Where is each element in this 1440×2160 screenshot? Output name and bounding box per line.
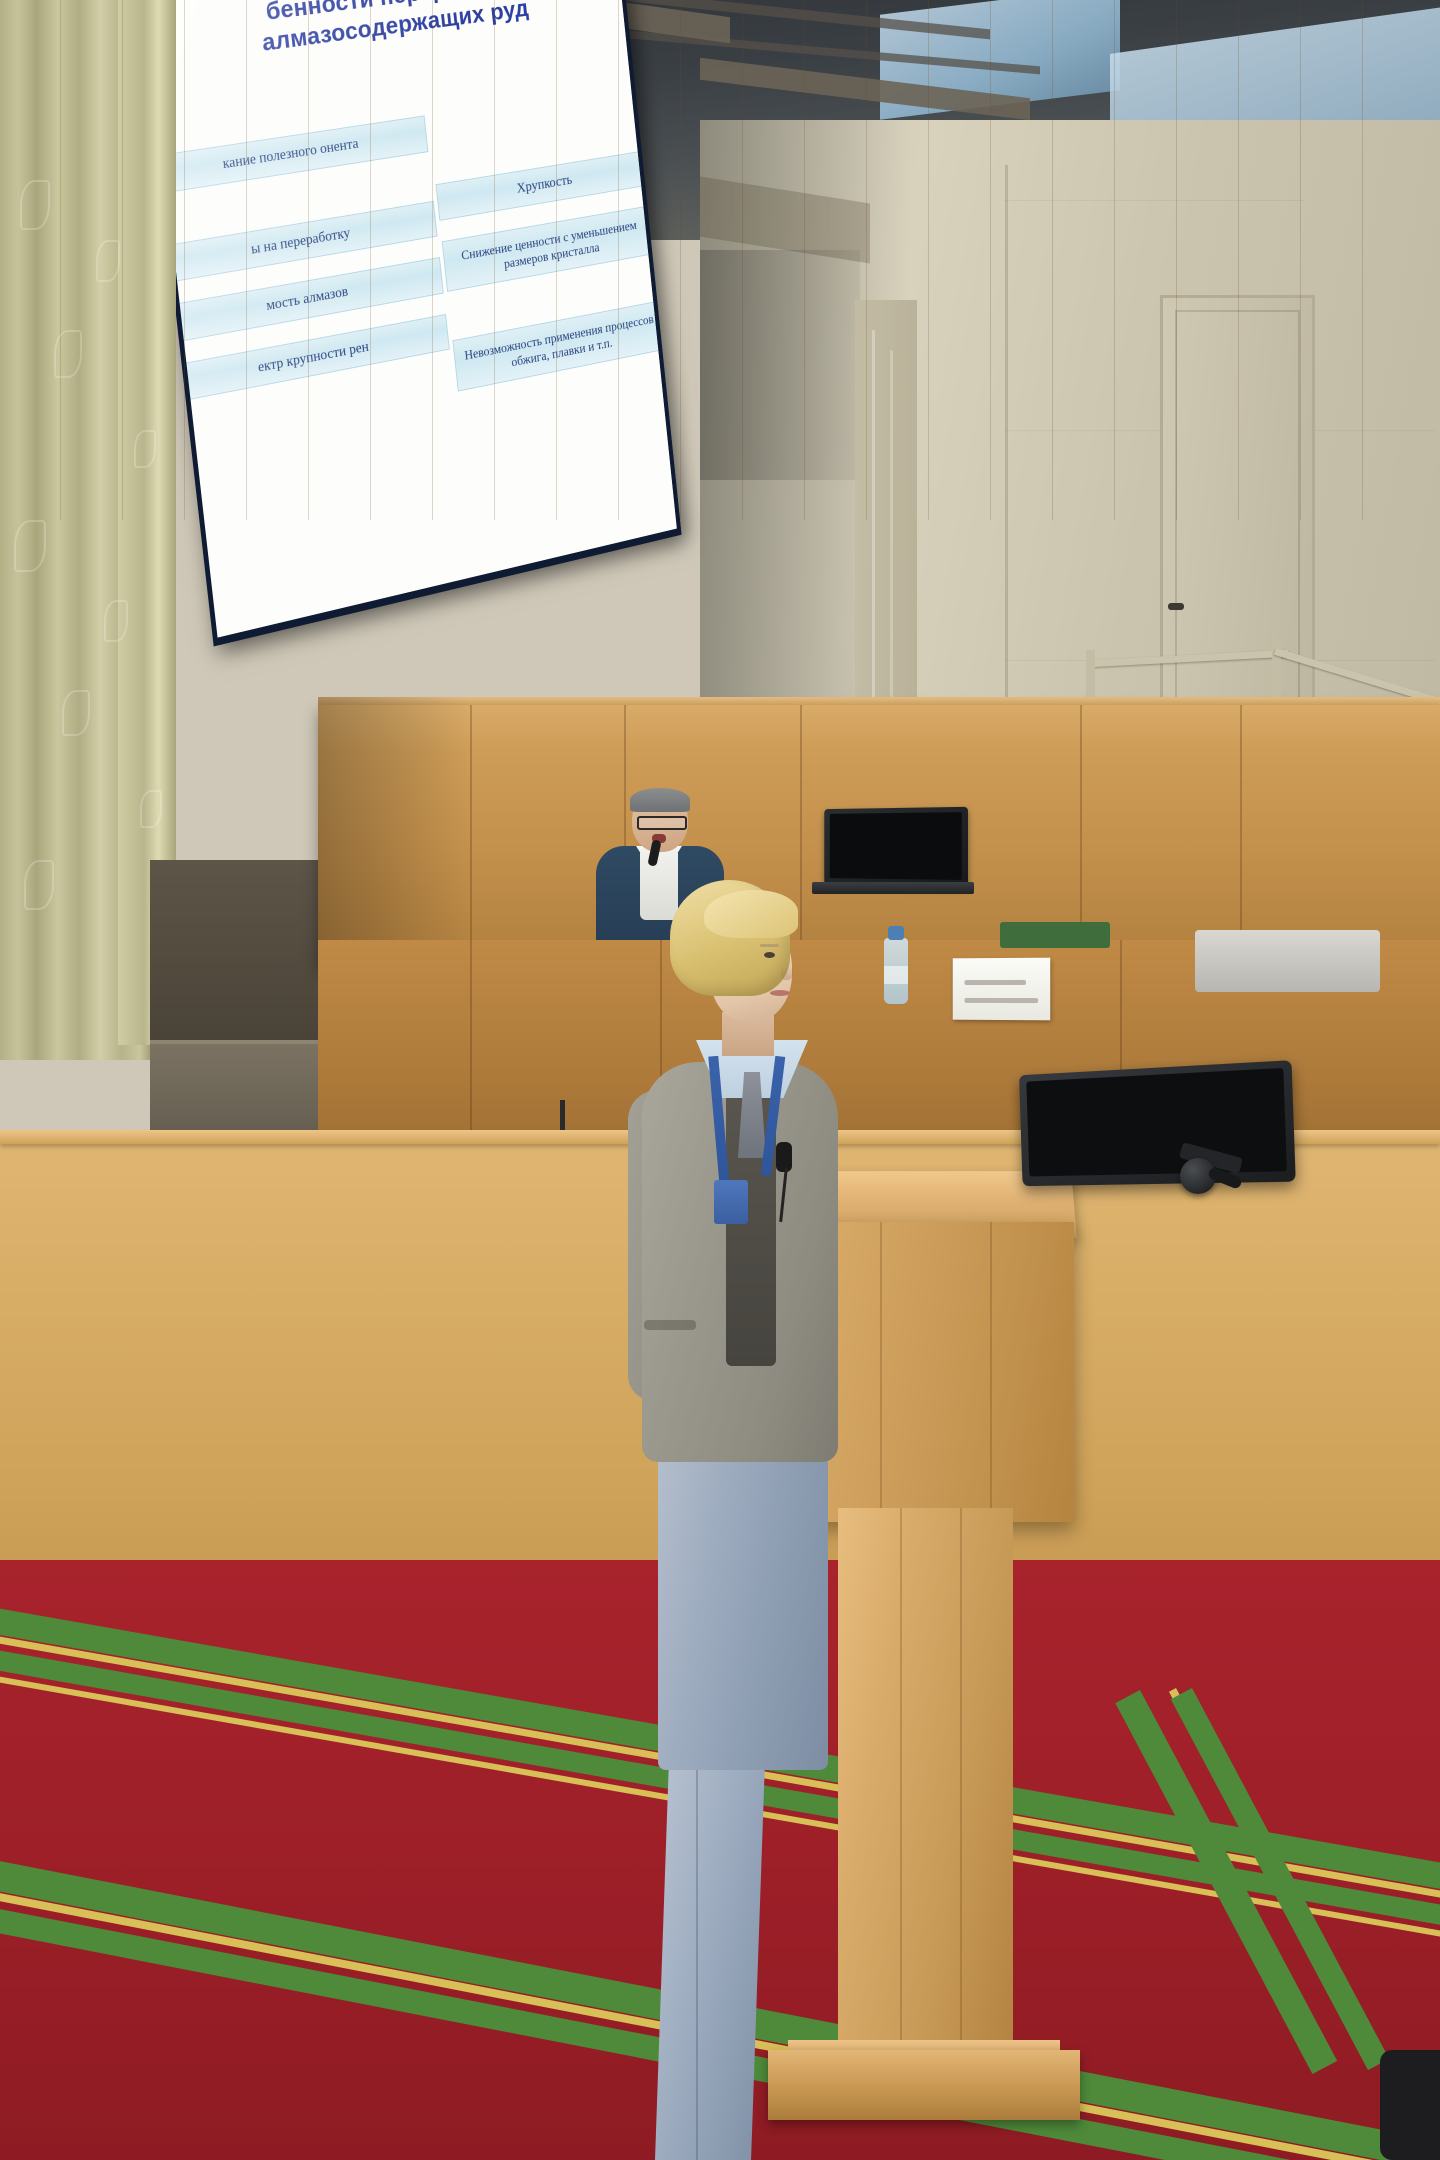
bottle-label [884, 966, 908, 984]
nameplate-text-line [964, 980, 1026, 985]
presenter-eyebrow [760, 944, 779, 947]
lectern-seam [880, 1222, 882, 1522]
monitor-screen [1026, 1068, 1287, 1177]
dark-foreground-object [1380, 2050, 1440, 2160]
presenter-eye [764, 952, 775, 958]
desk-shadow [318, 697, 468, 967]
curtain-pattern [140, 790, 162, 828]
wall-seam [1005, 200, 1305, 201]
lectern-seam [960, 1508, 962, 2053]
door-handle[interactable] [1168, 603, 1184, 610]
eyeglasses-icon [637, 816, 687, 830]
desk-seam [1240, 705, 1242, 967]
chair-back [1195, 930, 1380, 992]
curtain-pattern [20, 180, 50, 230]
presenter-fringe [704, 890, 798, 938]
nameplate-text-line [964, 998, 1038, 1003]
presenter [618, 880, 868, 2010]
green-object [1000, 922, 1110, 948]
curtain-pattern [62, 690, 90, 736]
laptop [824, 807, 968, 887]
curtain-pattern [104, 600, 128, 642]
lectern-monitor[interactable] [1019, 1060, 1296, 1186]
photo-scene: бенности переработки алмазосодержащих ру… [0, 0, 1440, 2160]
curtain-pattern [24, 860, 54, 910]
presenter-nose [781, 966, 793, 980]
bottle-cap [888, 926, 904, 940]
curtain-pattern [134, 430, 156, 468]
curtain-pattern [96, 240, 120, 282]
slide-left-column: кание полезного онента ы на переработку … [147, 115, 452, 424]
lectern-seam [900, 1508, 902, 2053]
desk-seam [470, 705, 472, 967]
presenter-jeans [658, 1440, 828, 1770]
laptop-screen [830, 812, 962, 880]
projection-screen-frame: бенности переработки алмазосодержащих ру… [138, 0, 682, 646]
conference-badge [714, 1180, 748, 1224]
stage-backdrop [150, 860, 320, 1040]
curtain-pattern [14, 520, 46, 572]
slide-title: бенности переработки алмазосодержащих ру… [154, 0, 619, 72]
presenter-leg-seam [696, 1710, 698, 2160]
wall-recess [700, 250, 860, 480]
seated-man-hair [630, 788, 690, 812]
slide-right-column: Хрупкость Снижение ценности с уменьшение… [428, 83, 668, 411]
lectern-seam [990, 1222, 992, 1522]
projection-screen: бенности переработки алмазосодержащих ру… [143, 0, 676, 638]
desk-nameplate [953, 958, 1050, 1021]
curtain-pattern [54, 330, 82, 378]
presenter-mouth [770, 990, 790, 996]
lectern-base [768, 2050, 1080, 2120]
presenter-pocket [644, 1320, 696, 1330]
